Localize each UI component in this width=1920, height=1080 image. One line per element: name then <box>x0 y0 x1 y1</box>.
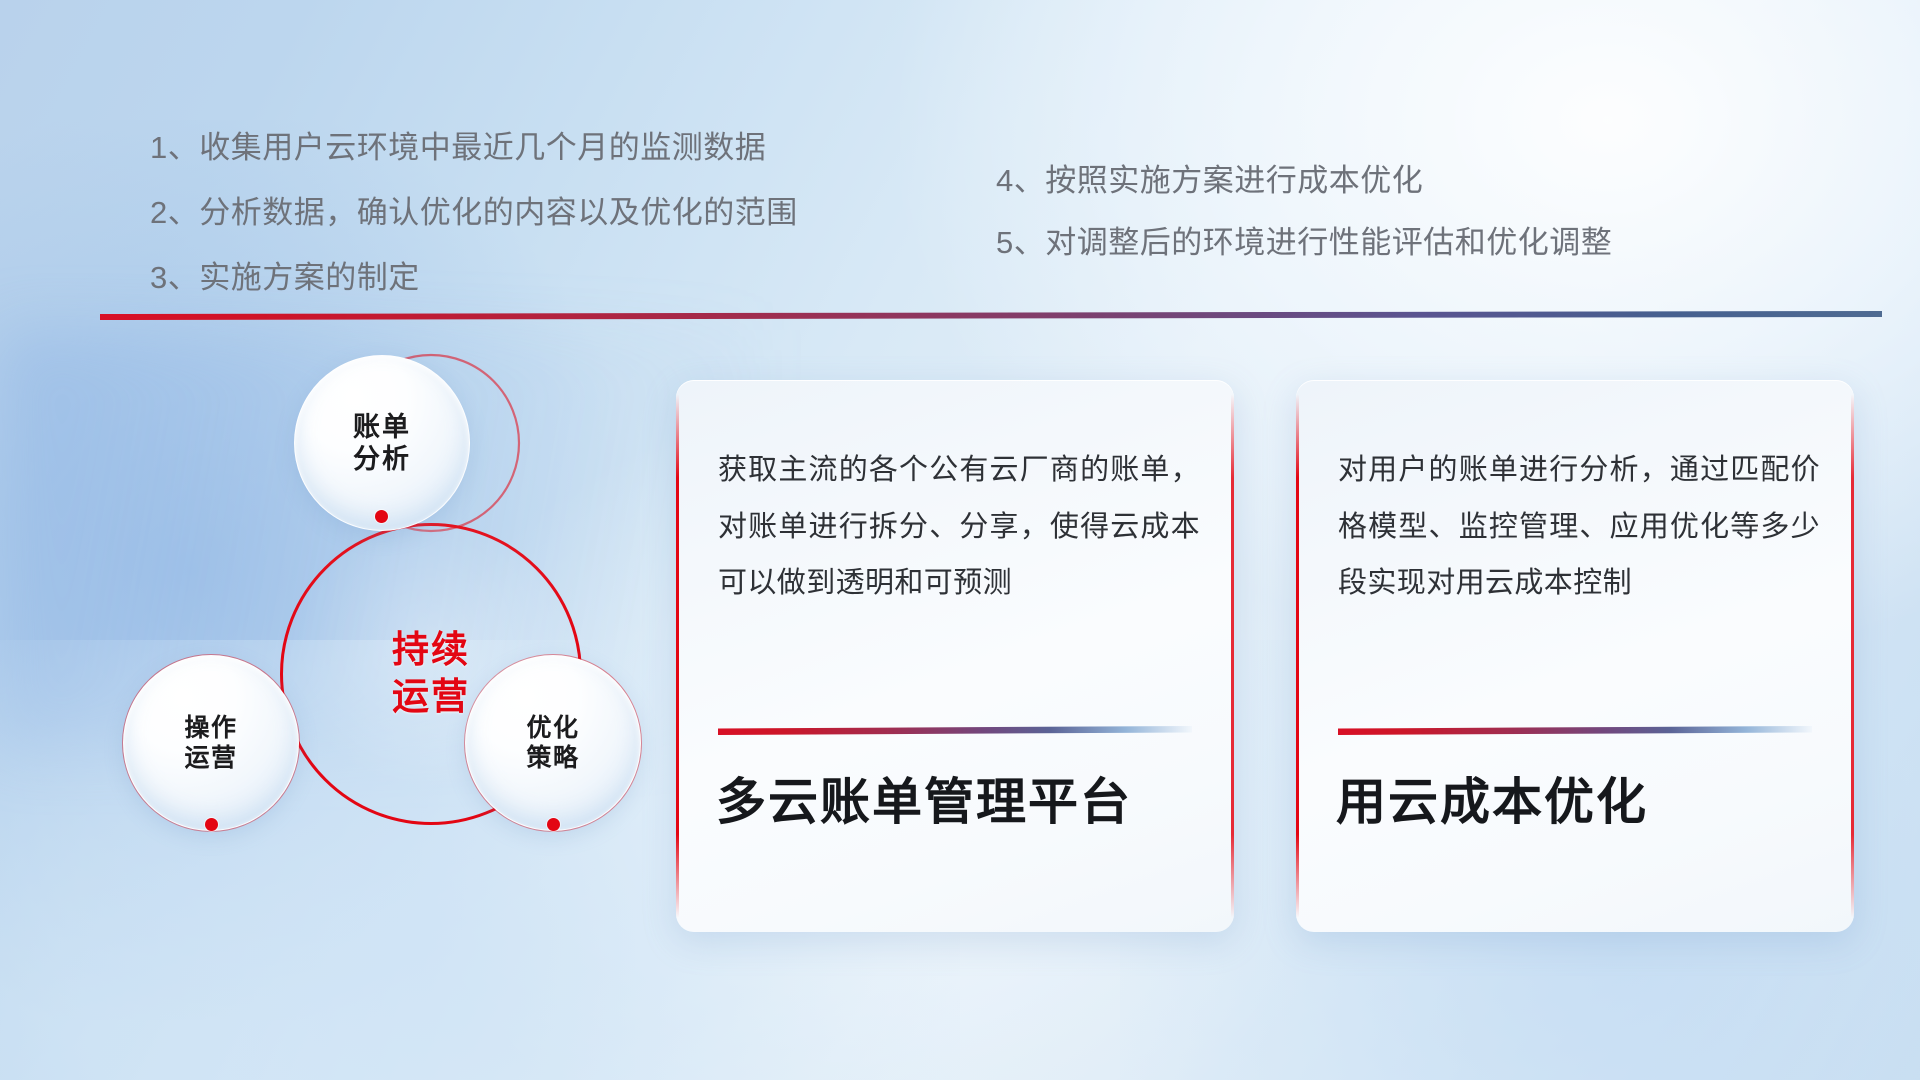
card-multi-cloud-billing-platform[interactable]: 获取主流的各个公有云厂商的账单，对账单进行拆分、分享，使得云成本可以做到透明和可… <box>676 380 1234 932</box>
card-left-accent-bar <box>1296 394 1299 918</box>
continuous-operation-diagram: 持续 运营 账单 分析 操作 运营 优化 策略 <box>95 355 655 935</box>
center-label-line-2: 运营 <box>392 676 470 719</box>
node-dot-bottom-right <box>547 818 560 831</box>
process-steps-list: 1、收集用户云环境中最近几个月的监测数据 2、分析数据，确认优化的内容以及优化的… <box>0 0 1920 300</box>
node-dot-top <box>375 510 388 523</box>
slide-canvas: 1、收集用户云环境中最近几个月的监测数据 2、分析数据，确认优化的内容以及优化的… <box>0 0 1920 1080</box>
card-title: 多云账单管理平台 <box>716 772 1214 832</box>
bubble-optimization-strategy-line-2: 策略 <box>526 743 579 773</box>
divider-gradient-bar <box>100 311 1882 320</box>
bubble-optimization-strategy-line-1: 优化 <box>526 713 579 743</box>
step-item-2: 2、分析数据，确认优化的内容以及优化的范围 <box>150 187 798 232</box>
card-divider <box>1338 726 1812 735</box>
card-divider <box>718 726 1192 735</box>
section-divider-rule <box>100 311 1882 320</box>
card-body-text: 获取主流的各个公有云厂商的账单，对账单进行拆分、分享，使得云成本可以做到透明和可… <box>718 442 1200 612</box>
card-cloud-cost-optimization[interactable]: 对用户的账单进行分析，通过匹配价格模型、监控管理、应用优化等多少段实现对用云成本… <box>1296 380 1854 932</box>
step-item-5: 5、对调整后的环境进行性能评估和优化调整 <box>996 217 1612 262</box>
bubble-billing-analysis[interactable]: 账单 分析 <box>294 355 470 531</box>
card-right-accent-bar <box>1231 394 1234 918</box>
bubble-operations[interactable]: 操作 运营 <box>123 655 299 831</box>
feature-cards: 获取主流的各个公有云厂商的账单，对账单进行拆分、分享，使得云成本可以做到透明和可… <box>676 380 1876 940</box>
card-title: 用云成本优化 <box>1336 772 1834 832</box>
bubble-operations-line-1: 操作 <box>184 713 237 743</box>
card-right-accent-bar <box>1851 394 1854 918</box>
card-left-accent-bar <box>676 394 679 918</box>
step-item-1: 1、收集用户云环境中最近几个月的监测数据 <box>150 122 766 167</box>
bubble-optimization-strategy[interactable]: 优化 策略 <box>465 655 641 831</box>
bubble-operations-line-2: 运营 <box>184 743 237 773</box>
step-item-3: 3、实施方案的制定 <box>150 252 420 297</box>
bubble-billing-analysis-line-2: 分析 <box>353 443 411 475</box>
center-label-line-1: 持续 <box>392 629 470 672</box>
card-body-text: 对用户的账单进行分析，通过匹配价格模型、监控管理、应用优化等多少段实现对用云成本… <box>1338 442 1820 612</box>
bubble-billing-analysis-line-1: 账单 <box>353 411 411 443</box>
step-item-4: 4、按照实施方案进行成本优化 <box>996 155 1423 200</box>
node-dot-bottom-left <box>205 818 218 831</box>
card-divider-gradient-bar <box>718 726 1192 735</box>
card-divider-gradient-bar <box>1338 726 1812 735</box>
